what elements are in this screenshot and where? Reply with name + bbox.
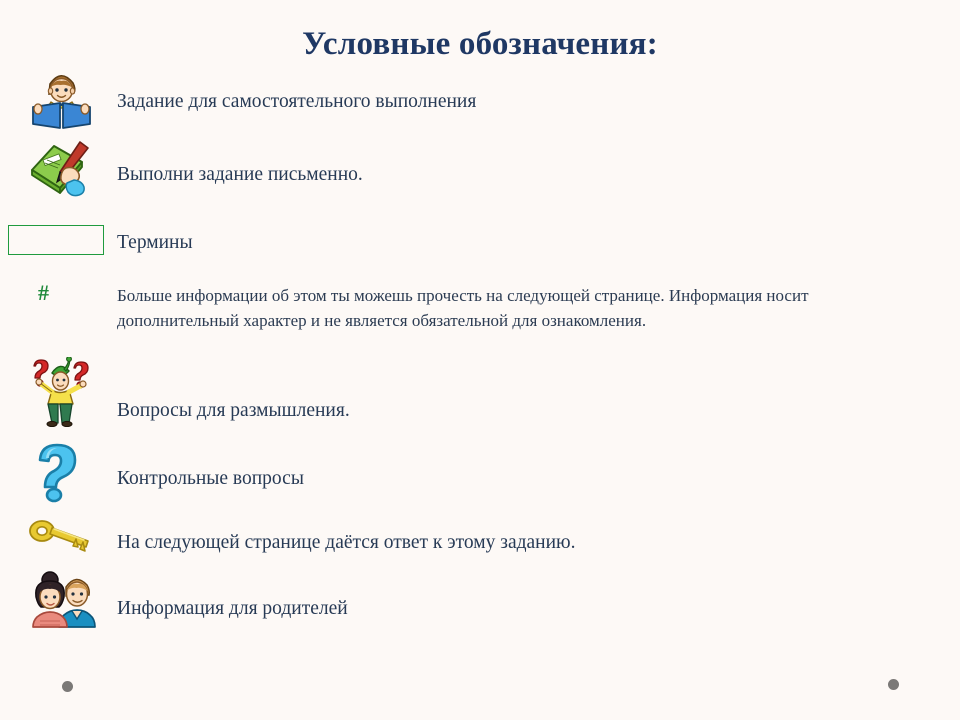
legend-label-parents-information: Информация для родителей <box>117 595 817 623</box>
boy-with-question-marks-icon <box>24 357 98 427</box>
boy-reading-book-icon <box>24 62 98 134</box>
green-rectangle-box-icon <box>8 225 104 255</box>
hash-symbol-icon: # <box>38 280 49 306</box>
legend-label-thinking-questions: Вопросы для размышления. <box>117 397 817 425</box>
legend-label-extra-information: Больше информации об этом ты можешь проч… <box>117 283 895 333</box>
legend-label-control-questions: Контрольные вопросы <box>117 465 817 493</box>
golden-key-icon <box>26 513 98 561</box>
hand-writing-notebook-icon <box>24 138 98 200</box>
slide-canvas: Условные обозначения: <box>0 0 960 720</box>
legend-label-answer-next-page: На следующей странице даётся ответ к это… <box>117 529 877 557</box>
legend-label-independent-task: Задание для самостоятельного выполнения <box>117 88 817 116</box>
progress-dot-right[interactable] <box>888 679 899 690</box>
legend-label-terms: Термины <box>117 229 817 257</box>
parents-couple-icon <box>24 567 98 639</box>
legend-label-written-task: Выполни задание письменно. <box>117 161 817 189</box>
progress-dot-left[interactable] <box>62 681 73 692</box>
page-title: Условные обозначения: <box>0 26 960 63</box>
blue-question-mark-icon <box>26 442 96 504</box>
